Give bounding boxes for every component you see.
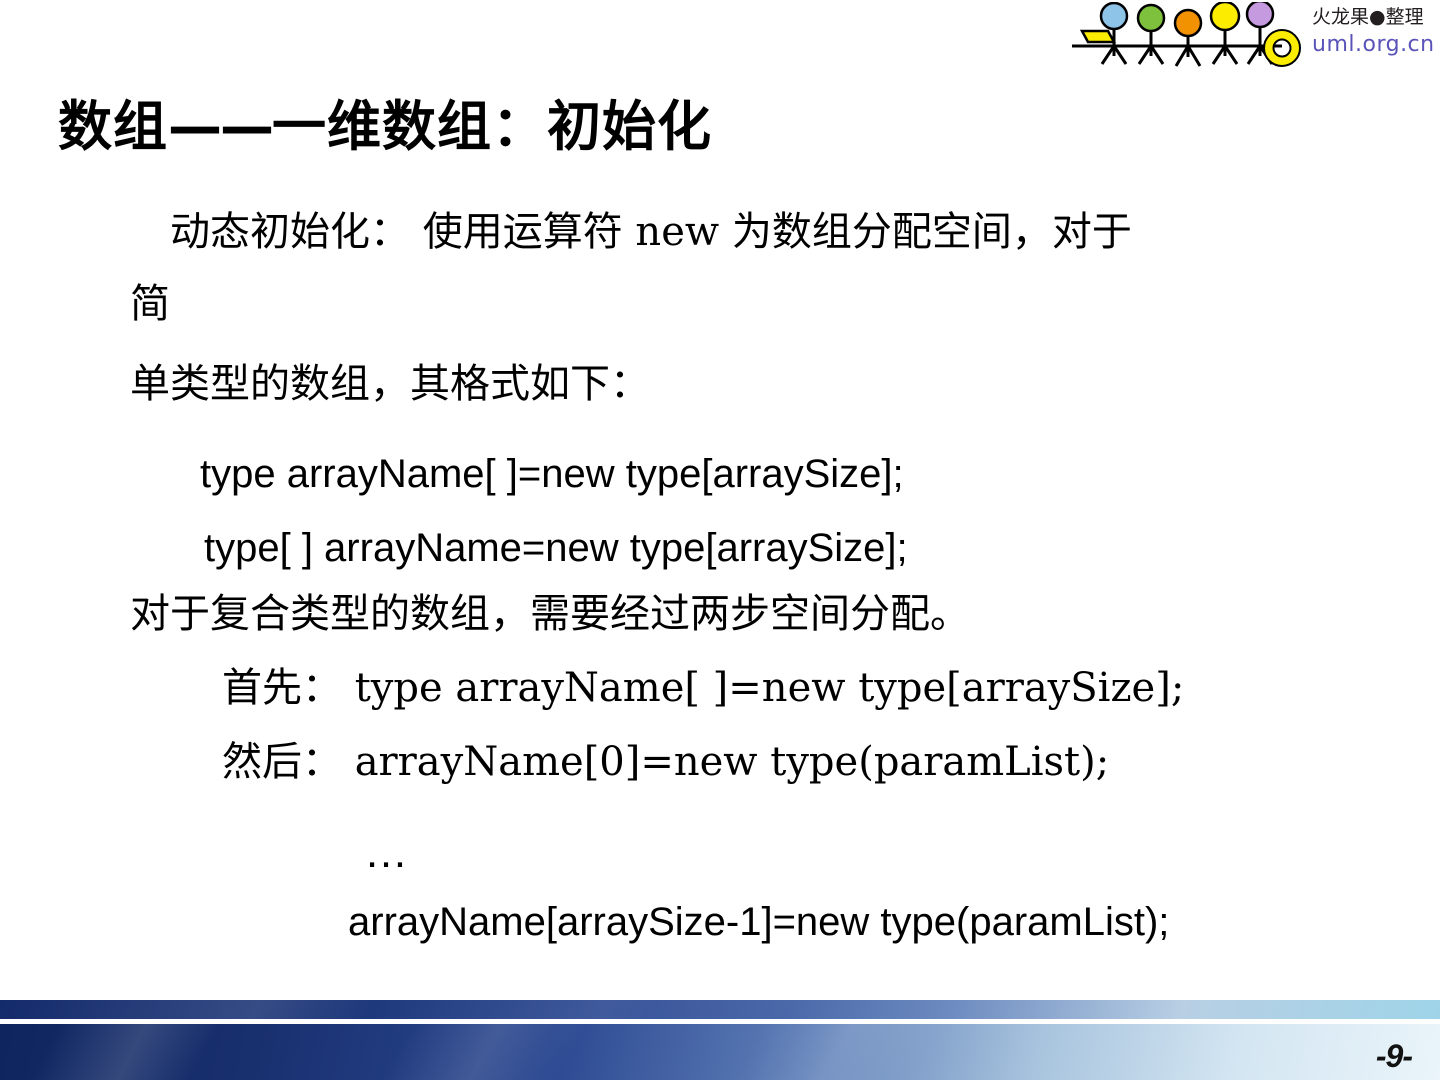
- footer-main-band: [0, 1024, 1440, 1080]
- body-line-wrap-jian: 简: [130, 278, 170, 330]
- brand-url: uml.org.cn: [1312, 30, 1440, 60]
- brand-name-cn: 火龙果●整理: [1312, 4, 1440, 30]
- brand-header: 火龙果●整理 uml.org.cn: [1060, 0, 1440, 86]
- page-number: -9-: [1376, 1038, 1412, 1075]
- stick-figures-logo-icon: [1070, 2, 1310, 84]
- code-line-last-element: arrayName[arraySize-1]=new type(paramLis…: [348, 896, 1169, 948]
- slide: 火龙果●整理 uml.org.cn 数组——一维数组：初始化 动态初始化： 使用…: [0, 0, 1440, 1080]
- uml-org-cn-logo: [1070, 2, 1310, 84]
- title-lead: 数组: [58, 94, 168, 158]
- title-rest: 一维数组：初始化: [272, 94, 712, 158]
- body-line-step-first: 首先： type arrayName[ ]=new type[arraySize…: [222, 662, 1184, 714]
- brand-text-block: 火龙果●整理 uml.org.cn: [1312, 4, 1440, 60]
- page-title: 数组——一维数组：初始化: [58, 92, 712, 161]
- body-line-dynamic-init: 动态初始化： 使用运算符 new 为数组分配空间，对于: [170, 206, 1132, 258]
- code-line-declaration-2: type[ ] arrayName=new type[arraySize];: [204, 522, 908, 574]
- body-line-step-then: 然后： arrayName[0]=new type(paramList);: [222, 736, 1109, 788]
- footer-accent-band: [0, 1000, 1440, 1019]
- body-line-composite-type: 对于复合类型的数组，需要经过两步空间分配。: [130, 588, 970, 640]
- body-line-ellipsis: …: [364, 828, 411, 878]
- slide-body: 动态初始化： 使用运算符 new 为数组分配空间，对于 简 单类型的数组，其格式…: [0, 196, 1440, 976]
- title-dash: ——: [168, 95, 272, 158]
- code-line-declaration-1: type arrayName[ ]=new type[arraySize];: [200, 448, 904, 500]
- body-line-simple-type-format: 单类型的数组，其格式如下：: [130, 358, 650, 410]
